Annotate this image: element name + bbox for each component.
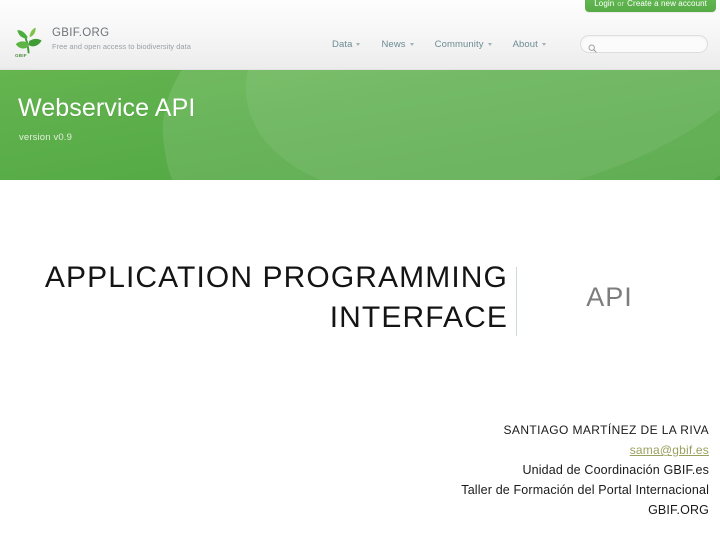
main-nav: Data News Community About xyxy=(332,39,546,50)
credit-site: GBIF.ORG xyxy=(289,500,709,520)
page-banner: Webservice API version v0.9 xyxy=(0,70,720,180)
nav-item-label: News xyxy=(381,39,405,50)
headline: APPLICATION PROGRAMMING INTERFACE xyxy=(0,258,516,338)
brand-block[interactable]: GBIF GBIF.ORG Free and open access to bi… xyxy=(14,26,191,58)
headline-row: APPLICATION PROGRAMMING INTERFACE API xyxy=(0,258,720,338)
brand-text: GBIF.ORG Free and open access to biodive… xyxy=(52,26,191,52)
page-version: version v0.9 xyxy=(19,132,72,143)
search-input[interactable] xyxy=(600,39,700,49)
nav-item-data[interactable]: Data xyxy=(332,39,360,50)
credit-email-row: sama@gbif.es xyxy=(289,440,709,460)
brand-tagline: Free and open access to biodiversity dat… xyxy=(52,41,191,52)
chevron-down-icon xyxy=(488,43,492,46)
slide-root: Login or Create a new account GBIF GBIF.… xyxy=(0,0,720,540)
brand-title: GBIF.ORG xyxy=(52,27,191,40)
chevron-down-icon xyxy=(356,43,360,46)
nav-item-label: Data xyxy=(332,39,352,50)
headline-line-1: APPLICATION PROGRAMMING xyxy=(0,258,508,298)
account-bar[interactable]: Login or Create a new account xyxy=(585,0,716,12)
credit-event: Taller de Formación del Portal Internaci… xyxy=(289,480,709,500)
login-link[interactable]: Login xyxy=(594,0,614,8)
page-title: Webservice API xyxy=(18,96,195,121)
chevron-down-icon xyxy=(410,43,414,46)
nav-item-label: About xyxy=(513,39,538,50)
headline-line-2: INTERFACE xyxy=(0,298,508,338)
logo-caption: GBIF xyxy=(15,53,27,58)
search-icon xyxy=(588,40,597,49)
nav-item-news[interactable]: News xyxy=(381,39,413,50)
nav-item-about[interactable]: About xyxy=(513,39,546,50)
headline-side: API xyxy=(517,258,720,338)
credit-organization: Unidad de Coordinación GBIF.es xyxy=(289,460,709,480)
credit-author: SANTIAGO MARTÍNEZ DE LA RIVA xyxy=(289,420,709,440)
create-account-link[interactable]: Create a new account xyxy=(627,0,707,8)
chevron-down-icon xyxy=(542,43,546,46)
gbif-seedling-logo-icon: GBIF xyxy=(14,26,44,58)
nav-item-label: Community xyxy=(435,39,484,50)
search-box[interactable] xyxy=(580,35,708,53)
site-header: Login or Create a new account GBIF GBIF.… xyxy=(0,0,720,70)
credits-block: SANTIAGO MARTÍNEZ DE LA RIVA sama@gbif.e… xyxy=(289,420,709,520)
credit-email-link[interactable]: sama@gbif.es xyxy=(630,443,709,457)
nav-item-community[interactable]: Community xyxy=(435,39,492,50)
side-label: API xyxy=(586,284,633,311)
account-bar-separator: or xyxy=(617,0,624,8)
